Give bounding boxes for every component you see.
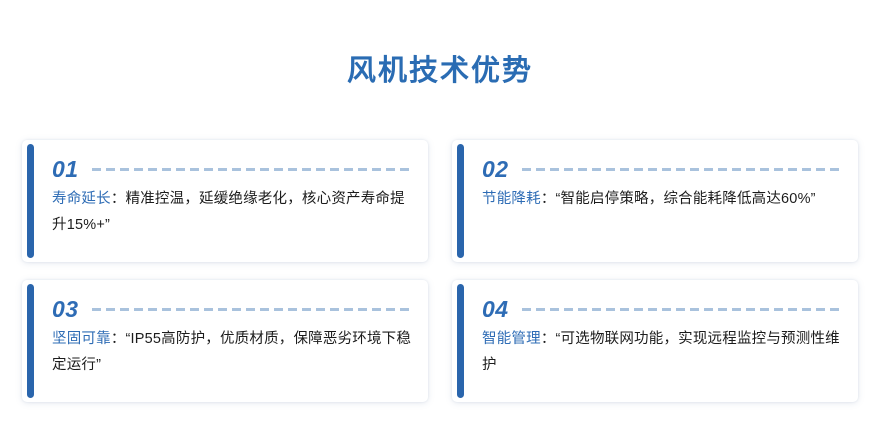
card-label-colon: ： — [111, 331, 126, 347]
dashed-divider-icon — [522, 308, 840, 311]
dashed-divider-icon — [92, 168, 410, 171]
card-body: 智能管理：“可选物联网功能，实现远程监控与预测性维护 — [482, 326, 842, 378]
advantage-card-01[interactable]: 01 寿命延长：精准控温，延缓绝缘老化，核心资产寿命提升15%+” — [22, 140, 428, 262]
accent-bar-icon — [27, 284, 34, 398]
advantage-card-04[interactable]: 04 智能管理：“可选物联网功能，实现远程监控与预测性维护 — [452, 280, 858, 402]
card-label: 寿命延长 — [52, 191, 111, 207]
accent-bar-icon — [457, 144, 464, 258]
page-title: 风机技术优势 — [0, 52, 880, 90]
card-body: 寿命延长：精准控温，延缓绝缘老化，核心资产寿命提升15%+” — [52, 186, 412, 238]
card-label-colon: ： — [541, 191, 556, 207]
card-header: 04 — [482, 296, 842, 322]
card-body: 坚固可靠：“IP55高防护，优质材质，保障恶劣环境下稳定运行” — [52, 326, 412, 378]
dashed-divider-icon — [92, 308, 410, 311]
card-header: 03 — [52, 296, 412, 322]
dashed-divider-icon — [522, 168, 840, 171]
accent-bar-icon — [457, 284, 464, 398]
card-number: 01 — [52, 156, 79, 182]
card-header: 01 — [52, 156, 412, 182]
card-text: “智能启停策略，综合能耗降低高达60%” — [556, 191, 816, 207]
card-number: 04 — [482, 296, 509, 322]
card-label-colon: ： — [541, 331, 556, 347]
card-body: 节能降耗：“智能启停策略，综合能耗降低高达60%” — [482, 186, 842, 212]
advantage-card-grid: 01 寿命延长：精准控温，延缓绝缘老化，核心资产寿命提升15%+” 02 节能降… — [22, 140, 858, 402]
card-header: 02 — [482, 156, 842, 182]
card-label: 坚固可靠 — [52, 331, 111, 347]
accent-bar-icon — [27, 144, 34, 258]
slide-root: 风机技术优势 01 寿命延长：精准控温，延缓绝缘老化，核心资产寿命提升15%+”… — [0, 0, 880, 448]
advantage-card-02[interactable]: 02 节能降耗：“智能启停策略，综合能耗降低高达60%” — [452, 140, 858, 262]
card-label: 智能管理 — [482, 331, 541, 347]
advantage-card-03[interactable]: 03 坚固可靠：“IP55高防护，优质材质，保障恶劣环境下稳定运行” — [22, 280, 428, 402]
card-number: 02 — [482, 156, 509, 182]
card-label: 节能降耗 — [482, 191, 541, 207]
card-label-colon: ： — [111, 191, 126, 207]
card-number: 03 — [52, 296, 79, 322]
